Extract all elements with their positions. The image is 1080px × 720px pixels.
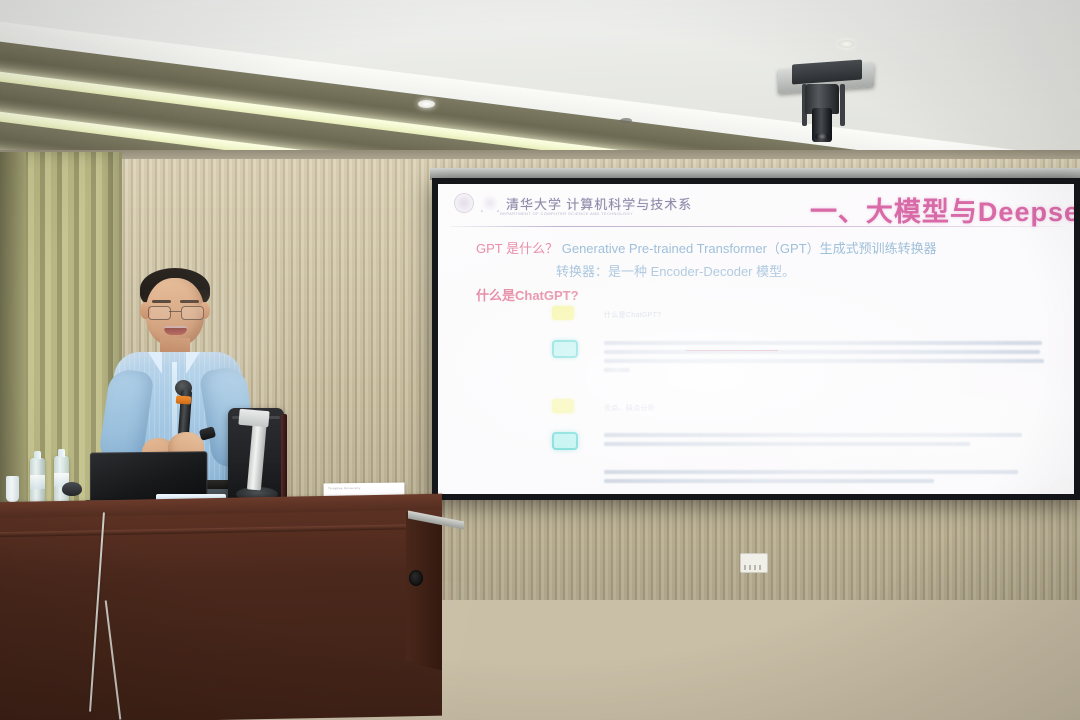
smoke-detector-icon — [620, 118, 632, 123]
bullet-marker-yellow-icon — [552, 306, 574, 320]
microphone-band — [176, 395, 192, 404]
eyebrow — [152, 300, 171, 303]
chair-side-panel — [281, 414, 287, 498]
collar-right — [186, 352, 200, 374]
university-logo: 清华大学 计算机科学与技术系 — [454, 193, 692, 213]
chatgpt-question-heading: 什么是ChatGPT? — [476, 285, 579, 304]
text-line — [604, 470, 1018, 474]
header-divider — [450, 226, 1064, 227]
lens-right — [181, 306, 204, 320]
presentation-slide: 清华大学 计算机科学与技术系 DEPARTMENT OF COMPUTER SC… — [438, 184, 1074, 494]
camera-arm — [840, 84, 845, 126]
tsinghua-emblem-icon — [454, 193, 474, 213]
mouth — [164, 326, 187, 335]
bullet-paragraph — [604, 341, 1044, 377]
text-line — [604, 433, 1022, 437]
projection-screen: 清华大学 计算机科学与技术系 DEPARTMENT OF COMPUTER SC… — [432, 178, 1080, 500]
downlight-icon — [838, 40, 855, 48]
gpt-definition-line: GPT 是什么？ Generative Pre-trained Transfor… — [476, 238, 937, 257]
slide-header: 清华大学 计算机科学与技术系 DEPARTMENT OF COMPUTER SC… — [438, 184, 1074, 228]
logo-text-cn: 清华大学 计算机科学与技术系 — [506, 194, 692, 213]
wall-top-band — [0, 150, 1080, 159]
wall-outlet-panel — [740, 553, 768, 573]
department-emblem-icon — [481, 194, 499, 212]
camera-lens-icon — [812, 108, 832, 142]
collar-left — [148, 352, 162, 374]
ceiling-camera — [778, 60, 874, 142]
downlight-icon — [418, 100, 435, 108]
text-line — [604, 479, 934, 483]
eyeglasses-icon — [148, 306, 202, 318]
bullet-paragraph — [604, 470, 1024, 488]
glasses-bridge — [169, 311, 181, 312]
red-underline — [686, 350, 778, 351]
gpt-question-text: GPT 是什么？ — [476, 241, 558, 256]
water-bottle — [30, 458, 45, 506]
lecture-hall-photo: 清华大学 计算机科学与技术系 DEPARTMENT OF COMPUTER SC… — [0, 0, 1080, 720]
text-line — [604, 442, 970, 446]
bullet-caption: 什么是ChatGPT? — [604, 310, 661, 320]
slide-title: 一、大模型与Deepse — [810, 190, 1074, 229]
cable-grommet — [409, 570, 423, 586]
bullet-paragraph — [604, 433, 1024, 451]
gpt-answer-text: Generative Pre-trained Transformer（GPT）生… — [562, 241, 937, 256]
text-line — [604, 368, 630, 372]
water-bottle — [54, 456, 69, 504]
logo-text-en: DEPARTMENT OF COMPUTER SCIENCE AND TECHN… — [500, 211, 633, 216]
gpt-second-line: 转换器：是一种 Encoder-Decoder 模型。 — [556, 261, 795, 280]
paper-cup — [6, 476, 19, 502]
monitor-screen — [238, 409, 269, 428]
text-line — [604, 359, 1044, 363]
lens-left — [148, 306, 171, 320]
podium-side — [406, 512, 442, 671]
mouse[interactable] — [62, 482, 82, 496]
text-line — [604, 341, 1042, 345]
bullet-marker-yellow-icon — [552, 399, 574, 413]
bullet-marker-cyan-icon — [552, 432, 578, 450]
eyebrow — [180, 300, 199, 303]
text-line — [604, 350, 1040, 354]
bullet-marker-cyan-icon — [552, 340, 578, 358]
curtain-shadow — [0, 152, 26, 524]
bullet-caption: 优点、缺点分析 — [604, 403, 655, 413]
podium-front — [0, 510, 442, 720]
nameplate-subtitle: Tsinghua University — [328, 486, 360, 490]
